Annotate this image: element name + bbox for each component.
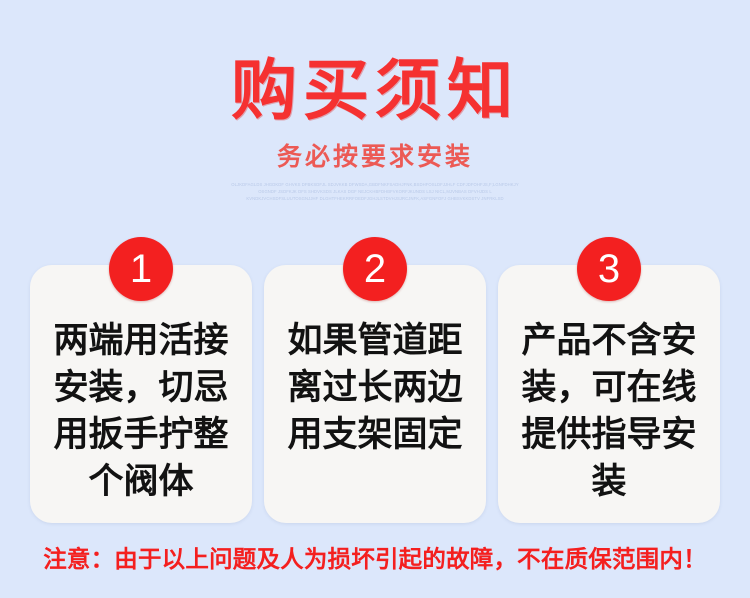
warranty-warning-text: 注意：由于以上问题及人为损坏引起的故障，不在质保范围内！ bbox=[0, 544, 750, 574]
notice-card-1-text: 两端用活接安装，切忌用扳手拧整个阀体 bbox=[30, 317, 252, 505]
step-badge-1: 1 bbox=[109, 237, 173, 301]
notice-card-2-text: 如果管道距离过长两边用支架固定 bbox=[264, 317, 486, 458]
step-badge-2: 2 bbox=[343, 237, 407, 301]
page-subtitle: 务必按要求安装 bbox=[0, 128, 750, 172]
notice-card-list: 1 两端用活接安装，切忌用扳手拧整个阀体 2 如果管道距离过长两边用支架固定 3… bbox=[30, 265, 720, 523]
notice-card-3-text: 产品不含安装，可在线提供指导安装 bbox=[498, 317, 720, 505]
step-badge-3: 3 bbox=[577, 237, 641, 301]
notice-card-3: 3 产品不含安装，可在线提供指导安装 bbox=[498, 265, 720, 523]
page-title: 购买须知 bbox=[0, 0, 750, 128]
notice-card-1: 1 两端用活接安装，切忌用扳手拧整个阀体 bbox=[30, 265, 252, 523]
decorative-filler-text: OLJKDFAGLDS JHGDKDF GHVKS DFBKSDFJL SDJV… bbox=[225, 172, 525, 202]
notice-card-2: 2 如果管道距离过长两边用支架固定 bbox=[264, 265, 486, 523]
header-section: 购买须知 务必按要求安装 OLJKDFAGLDS JHGDKDF GHVKS D… bbox=[0, 0, 750, 202]
filler-line-3: KVNDKJVCHSDFSLUUTOSGNJJHF DLGHTFHEKRRFOE… bbox=[225, 195, 525, 202]
